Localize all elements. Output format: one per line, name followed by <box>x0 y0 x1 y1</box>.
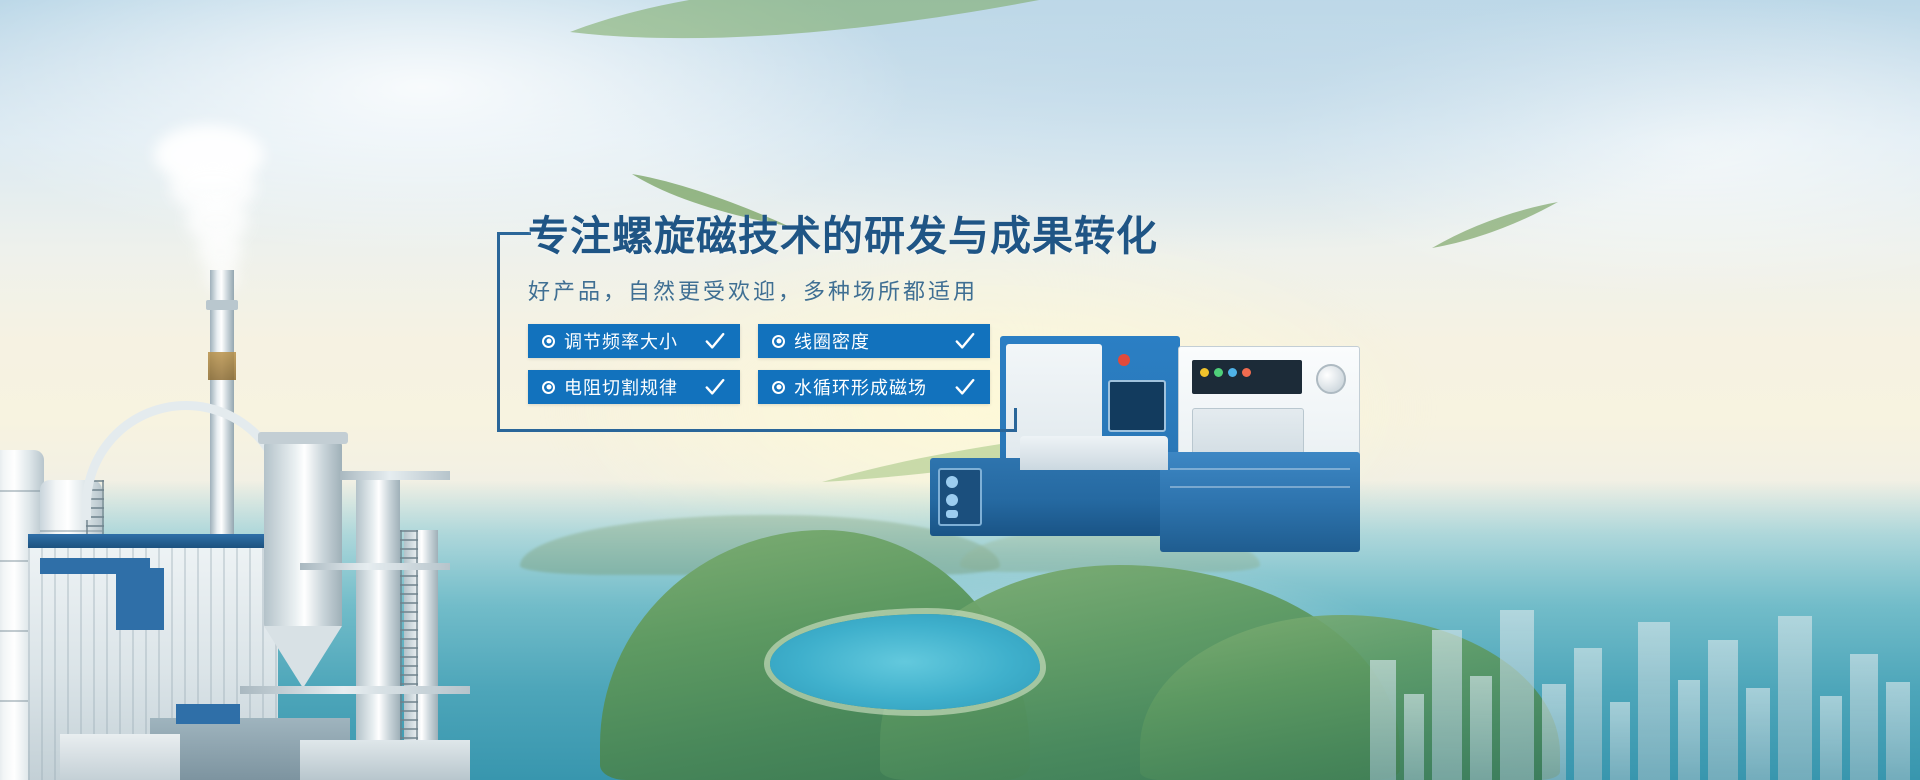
check-icon <box>704 376 726 398</box>
low-structure <box>60 734 180 780</box>
bracket-top-line <box>497 232 531 235</box>
machine-top-cover <box>1020 436 1168 470</box>
building-window <box>116 568 164 630</box>
connecting-pipe <box>340 471 450 480</box>
radio-dot-icon <box>542 381 555 394</box>
chimney-band <box>208 352 236 380</box>
low-structure <box>300 740 470 780</box>
radio-dot-icon <box>542 335 555 348</box>
bracket-bottom-line <box>497 429 1017 432</box>
cyclone-top <box>258 432 348 444</box>
blue-accent <box>176 704 240 724</box>
blue-roof <box>28 534 278 548</box>
check-icon <box>954 330 976 352</box>
process-tower <box>356 480 400 780</box>
cyclone-separator <box>264 440 342 630</box>
connecting-pipe <box>300 563 450 570</box>
feature-badge-label: 水循环形成磁场 <box>794 374 927 400</box>
feature-badge[interactable]: 水循环形成磁场 <box>758 370 990 404</box>
factory-illustration <box>0 140 540 780</box>
blue-stripe <box>40 558 150 574</box>
feature-badge[interactable]: 电阻切割规律 <box>528 370 740 404</box>
feature-badge-list: 调节频率大小 线圈密度 电阻切割规律 <box>528 324 998 404</box>
feature-badge-label: 调节频率大小 <box>564 328 678 354</box>
feature-badge[interactable]: 线圈密度 <box>758 324 990 358</box>
feature-badge[interactable]: 调节频率大小 <box>528 324 740 358</box>
radio-dot-icon <box>772 381 785 394</box>
distant-city-skyline <box>1360 580 1920 780</box>
banner-content: 专注螺旋磁技术的研发与成果转化 好产品，自然更受欢迎，多种场所都适用 调节频率大… <box>528 212 1348 404</box>
cyclone-cone <box>264 626 342 688</box>
banner-headline: 专注螺旋磁技术的研发与成果转化 <box>528 212 1348 260</box>
check-icon <box>954 376 976 398</box>
check-icon <box>704 330 726 352</box>
bracket-right-tick <box>1014 408 1017 432</box>
machine-base-unit <box>1160 452 1360 552</box>
chimney-cap <box>206 300 238 310</box>
connecting-pipe <box>240 686 470 694</box>
feature-badge-label: 线圈密度 <box>794 328 870 354</box>
bracket-left-line <box>497 232 500 432</box>
radio-dot-icon <box>772 335 785 348</box>
pipe-arch <box>82 401 290 520</box>
feature-badge-label: 电阻切割规律 <box>564 374 678 400</box>
banner-subheadline: 好产品，自然更受欢迎，多种场所都适用 <box>528 274 1348 306</box>
hero-banner: 专注螺旋磁技术的研发与成果转化 好产品，自然更受欢迎，多种场所都适用 调节频率大… <box>0 0 1920 780</box>
